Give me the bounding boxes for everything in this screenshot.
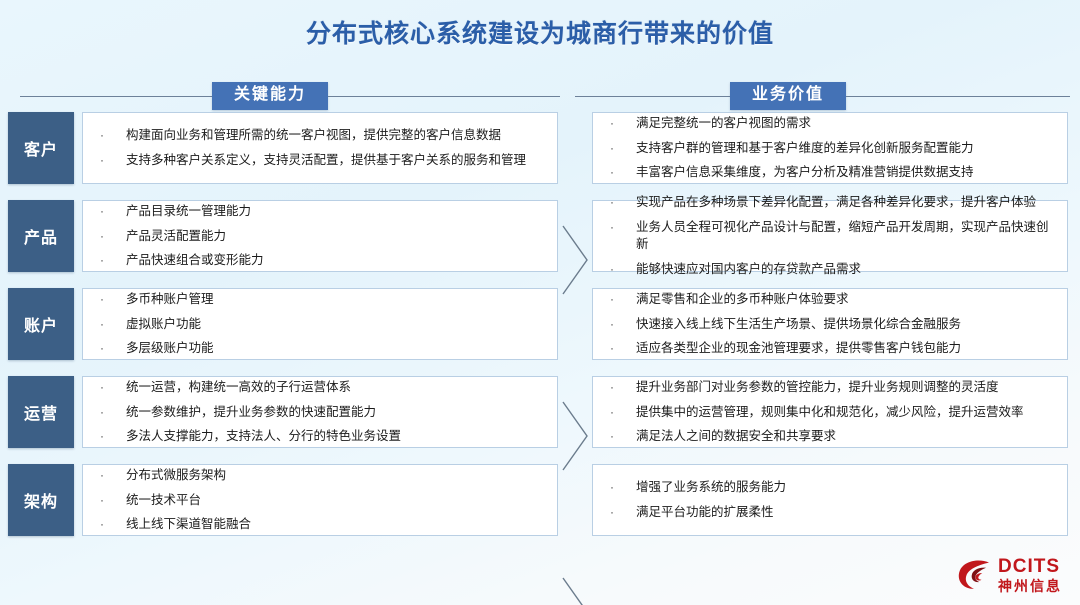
bullet-dot-icon: · bbox=[607, 340, 636, 356]
bullet-item: ·增强了业务系统的服务能力 bbox=[607, 479, 1059, 496]
bullet-text: 虚拟账户功能 bbox=[126, 316, 549, 333]
capability-box: ·产品目录统一管理能力·产品灵活配置能力·产品快速组合或变形能力 bbox=[82, 200, 558, 272]
logo-wordmark: DCITS 神州信息 bbox=[998, 557, 1062, 593]
bullet-dot-icon: · bbox=[97, 340, 126, 356]
bullet-dot-icon: · bbox=[97, 428, 126, 444]
bullet-text: 产品目录统一管理能力 bbox=[126, 203, 549, 220]
capability-box: ·多币种账户管理·虚拟账户功能·多层级账户功能 bbox=[82, 288, 558, 360]
bullet-dot-icon: · bbox=[607, 428, 636, 444]
bullet-item: ·线上线下渠道智能融合 bbox=[97, 516, 549, 533]
capability-box: ·分布式微服务架构·统一技术平台·线上线下渠道智能融合 bbox=[82, 464, 558, 536]
bullet-text: 多币种账户管理 bbox=[126, 291, 549, 308]
header-rule-left bbox=[575, 96, 730, 97]
bullet-dot-icon: · bbox=[97, 316, 126, 332]
bullet-item: ·多币种账户管理 bbox=[97, 291, 549, 308]
bullet-item: ·提升业务部门对业务参数的管控能力，提升业务规则调整的灵活度 bbox=[607, 379, 1059, 396]
badge-business-value: 业务价值 bbox=[730, 82, 846, 109]
business-value-box: ·满足完整统一的客户视图的需求·支持客户群的管理和基于客户维度的差异化创新服务配… bbox=[592, 112, 1068, 184]
bullet-item: ·构建面向业务和管理所需的统一客户视图，提供完整的客户信息数据 bbox=[97, 127, 549, 144]
bullet-dot-icon: · bbox=[97, 379, 126, 395]
bullet-item: ·丰富客户信息采集维度，为客户分析及精准营销提供数据支持 bbox=[607, 164, 1059, 181]
bullet-dot-icon: · bbox=[607, 291, 636, 307]
bullet-text: 支持多种客户关系定义，支持灵活配置，提供基于客户关系的服务和管理 bbox=[126, 152, 549, 169]
bullet-item: ·产品目录统一管理能力 bbox=[97, 203, 549, 220]
header-rule-right bbox=[328, 96, 560, 97]
bullet-text: 能够快速应对国内客户的存贷款产品需求 bbox=[636, 261, 1059, 278]
bullet-text: 满足平台功能的扩展柔性 bbox=[636, 504, 1059, 521]
column-header-key-capability: 关键能力 bbox=[20, 82, 560, 110]
bullet-text: 快速接入线上线下生活生产场景、提供场景化综合金融服务 bbox=[636, 316, 1059, 333]
value-row: 客户·构建面向业务和管理所需的统一客户视图，提供完整的客户信息数据·支持多种客户… bbox=[0, 112, 1080, 184]
value-row: 运营·统一运营，构建统一高效的子行运营体系·统一参数维护，提升业务参数的快速配置… bbox=[0, 376, 1080, 448]
bullet-text: 统一技术平台 bbox=[126, 492, 549, 509]
bullet-item: ·支持多种客户关系定义，支持灵活配置，提供基于客户关系的服务和管理 bbox=[97, 152, 549, 169]
bullet-text: 适应各类型企业的现金池管理要求，提供零售客户钱包能力 bbox=[636, 340, 1059, 357]
bullet-dot-icon: · bbox=[97, 127, 126, 143]
header-rule-left bbox=[20, 96, 212, 97]
business-value-box: ·增强了业务系统的服务能力·满足平台功能的扩展柔性 bbox=[592, 464, 1068, 536]
row-label-2: 产品 bbox=[8, 200, 74, 272]
bullet-text: 提供集中的运营管理，规则集中化和规范化，减少风险，提升运营效率 bbox=[636, 404, 1059, 421]
bullet-item: ·统一运营，构建统一高效的子行运营体系 bbox=[97, 379, 549, 396]
value-row: 产品·产品目录统一管理能力·产品灵活配置能力·产品快速组合或变形能力·实现产品在… bbox=[0, 200, 1080, 272]
row-label-3: 账户 bbox=[8, 288, 74, 360]
bullet-dot-icon: · bbox=[97, 467, 126, 483]
bullet-dot-icon: · bbox=[607, 194, 636, 210]
badge-key-capability: 关键能力 bbox=[212, 82, 328, 109]
bullet-dot-icon: · bbox=[607, 404, 636, 420]
bullet-dot-icon: · bbox=[607, 115, 636, 131]
bullet-dot-icon: · bbox=[607, 164, 636, 180]
bullet-item: ·满足完整统一的客户视图的需求 bbox=[607, 115, 1059, 132]
bullet-item: ·虚拟账户功能 bbox=[97, 316, 549, 333]
logo-name-cn: 神州信息 bbox=[998, 579, 1062, 593]
bullet-item: ·快速接入线上线下生活生产场景、提供场景化综合金融服务 bbox=[607, 316, 1059, 333]
value-row: 账户·多币种账户管理·虚拟账户功能·多层级账户功能·满足零售和企业的多币种账户体… bbox=[0, 288, 1080, 360]
header-rule-right bbox=[846, 96, 1070, 97]
bullet-text: 多层级账户功能 bbox=[126, 340, 549, 357]
bullet-text: 业务人员全程可视化产品设计与配置，缩短产品开发周期，实现产品快速创新 bbox=[636, 219, 1059, 253]
bullet-item: ·满足平台功能的扩展柔性 bbox=[607, 504, 1059, 521]
company-logo: DCITS 神州信息 bbox=[956, 557, 1062, 593]
bullet-text: 多法人支撑能力，支持法人、分行的特色业务设置 bbox=[126, 428, 549, 445]
page-title: 分布式核心系统建设为城商行带来的价值 bbox=[0, 14, 1080, 50]
bullet-text: 统一参数维护，提升业务参数的快速配置能力 bbox=[126, 404, 549, 421]
bullet-text: 构建面向业务和管理所需的统一客户视图，提供完整的客户信息数据 bbox=[126, 127, 549, 144]
bullet-dot-icon: · bbox=[97, 203, 126, 219]
bullet-item: ·能够快速应对国内客户的存贷款产品需求 bbox=[607, 261, 1059, 278]
row-label-1: 客户 bbox=[8, 112, 74, 184]
dcits-swoosh-icon bbox=[956, 558, 992, 592]
capability-box: ·统一运营，构建统一高效的子行运营体系·统一参数维护，提升业务参数的快速配置能力… bbox=[82, 376, 558, 448]
slide-canvas: 分布式核心系统建设为城商行带来的价值 关键能力 业务价值 客户·构建面向业务和管… bbox=[0, 0, 1080, 605]
bullet-text: 丰富客户信息采集维度，为客户分析及精准营销提供数据支持 bbox=[636, 164, 1059, 181]
value-row: 架构·分布式微服务架构·统一技术平台·线上线下渠道智能融合·增强了业务系统的服务… bbox=[0, 464, 1080, 536]
bullet-item: ·产品快速组合或变形能力 bbox=[97, 252, 549, 269]
bullet-dot-icon: · bbox=[607, 261, 636, 277]
bullet-text: 实现产品在多种场景下差异化配置，满足各种差异化要求，提升客户体验 bbox=[636, 194, 1059, 211]
bullet-dot-icon: · bbox=[97, 252, 126, 268]
bullet-item: ·分布式微服务架构 bbox=[97, 467, 549, 484]
bullet-dot-icon: · bbox=[607, 140, 636, 156]
business-value-box: ·满足零售和企业的多币种账户体验要求·快速接入线上线下生活生产场景、提供场景化综… bbox=[592, 288, 1068, 360]
bullet-item: ·多法人支撑能力，支持法人、分行的特色业务设置 bbox=[97, 428, 549, 445]
bullet-item: ·多层级账户功能 bbox=[97, 340, 549, 357]
bullet-text: 支持客户群的管理和基于客户维度的差异化创新服务配置能力 bbox=[636, 140, 1059, 157]
row-label-5: 架构 bbox=[8, 464, 74, 536]
bullet-text: 满足法人之间的数据安全和共享要求 bbox=[636, 428, 1059, 445]
bullet-item: ·满足法人之间的数据安全和共享要求 bbox=[607, 428, 1059, 445]
bullet-dot-icon: · bbox=[97, 516, 126, 532]
bullet-text: 统一运营，构建统一高效的子行运营体系 bbox=[126, 379, 549, 396]
bullet-text: 满足零售和企业的多币种账户体验要求 bbox=[636, 291, 1059, 308]
bullet-item: ·统一参数维护，提升业务参数的快速配置能力 bbox=[97, 404, 549, 421]
bullet-dot-icon: · bbox=[97, 404, 126, 420]
bullet-text: 产品快速组合或变形能力 bbox=[126, 252, 549, 269]
row-label-4: 运营 bbox=[8, 376, 74, 448]
bullet-text: 产品灵活配置能力 bbox=[126, 228, 549, 245]
bullet-text: 满足完整统一的客户视图的需求 bbox=[636, 115, 1059, 132]
bullet-dot-icon: · bbox=[607, 379, 636, 395]
bullet-item: ·实现产品在多种场景下差异化配置，满足各种差异化要求，提升客户体验 bbox=[607, 194, 1059, 211]
bullet-item: ·提供集中的运营管理，规则集中化和规范化，减少风险，提升运营效率 bbox=[607, 404, 1059, 421]
bullet-dot-icon: · bbox=[607, 479, 636, 495]
bullet-dot-icon: · bbox=[97, 152, 126, 168]
column-header-business-value: 业务价值 bbox=[575, 82, 1070, 110]
bullet-text: 分布式微服务架构 bbox=[126, 467, 549, 484]
business-value-box: ·实现产品在多种场景下差异化配置，满足各种差异化要求，提升客户体验·业务人员全程… bbox=[592, 200, 1068, 272]
bullet-dot-icon: · bbox=[607, 219, 636, 235]
bullet-text: 线上线下渠道智能融合 bbox=[126, 516, 549, 533]
bullet-dot-icon: · bbox=[97, 228, 126, 244]
arrow-connector-icon bbox=[560, 576, 590, 605]
bullet-dot-icon: · bbox=[97, 492, 126, 508]
bullet-dot-icon: · bbox=[607, 504, 636, 520]
bullet-item: ·适应各类型企业的现金池管理要求，提供零售客户钱包能力 bbox=[607, 340, 1059, 357]
bullet-item: ·统一技术平台 bbox=[97, 492, 549, 509]
bullet-item: ·产品灵活配置能力 bbox=[97, 228, 549, 245]
bullet-text: 提升业务部门对业务参数的管控能力，提升业务规则调整的灵活度 bbox=[636, 379, 1059, 396]
capability-box: ·构建面向业务和管理所需的统一客户视图，提供完整的客户信息数据·支持多种客户关系… bbox=[82, 112, 558, 184]
bullet-text: 增强了业务系统的服务能力 bbox=[636, 479, 1059, 496]
business-value-box: ·提升业务部门对业务参数的管控能力，提升业务规则调整的灵活度·提供集中的运营管理… bbox=[592, 376, 1068, 448]
bullet-item: ·支持客户群的管理和基于客户维度的差异化创新服务配置能力 bbox=[607, 140, 1059, 157]
bullet-dot-icon: · bbox=[607, 316, 636, 332]
bullet-dot-icon: · bbox=[97, 291, 126, 307]
bullet-item: ·业务人员全程可视化产品设计与配置，缩短产品开发周期，实现产品快速创新 bbox=[607, 219, 1059, 253]
bullet-item: ·满足零售和企业的多币种账户体验要求 bbox=[607, 291, 1059, 308]
logo-name-en: DCITS bbox=[998, 557, 1062, 576]
